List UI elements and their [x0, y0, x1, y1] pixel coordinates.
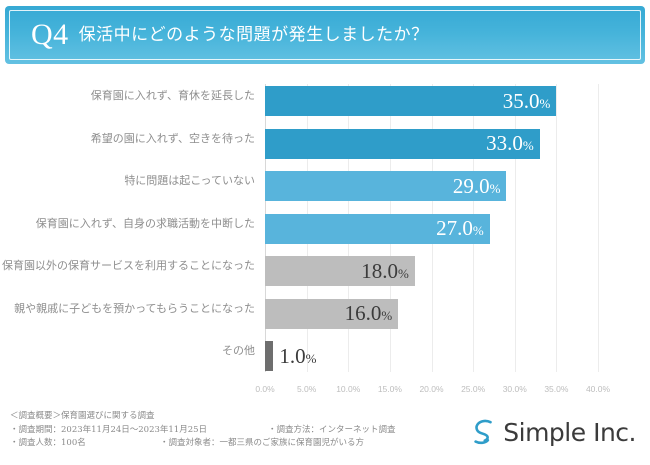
category-label: 親や親戚に子どもを預かってもらうことになった — [0, 303, 255, 314]
bar-value-number: 18.0 — [361, 259, 398, 283]
category-label: 特に問題は起こっていない — [0, 175, 255, 186]
header-text-row: Q4 保活中にどのような問題が発生しましたか？ — [31, 6, 429, 64]
bar: 33.0% — [265, 129, 540, 159]
bar-value-unit: % — [306, 351, 317, 366]
bar-value-unit: % — [540, 96, 551, 111]
x-tick-label: 35.0% — [544, 384, 568, 394]
bar-row: 1.0% — [265, 341, 273, 371]
bar-value-number: 16.0 — [345, 301, 382, 325]
x-tick-label: 30.0% — [503, 384, 527, 394]
survey-method: ・調査方法：インターネット調査 — [268, 424, 396, 438]
x-axis-ticks: 0.0%5.0%10.0%15.0%20.0%25.0%30.0%35.0%40… — [265, 384, 598, 398]
bar: 16.0% — [265, 299, 398, 329]
bar-value-label: 33.0% — [486, 133, 540, 154]
company-name: Simple Inc. — [503, 420, 636, 445]
company-logo: Simple Inc. — [470, 418, 636, 446]
survey-summary-line-2: ・調査期間：2023年11月24日〜2023年11月25日 ・調査方法：インター… — [10, 424, 207, 438]
bar-value-number: 1.0 — [279, 344, 305, 368]
category-label: 保育園以外の保育サービスを利用することになった — [0, 260, 255, 271]
header-banner: Q4 保活中にどのような問題が発生しましたか？ — [5, 6, 645, 64]
category-label: その他 — [0, 345, 255, 356]
footer: ＜調査概要＞保育園選びに関する調査 ・調査期間：2023年11月24日〜2023… — [0, 404, 650, 465]
bar-value-label: 1.0% — [273, 346, 322, 367]
category-label: 希望の園に入れず、空きを待った — [0, 133, 255, 144]
bar-value-unit: % — [490, 181, 501, 196]
x-tick-label: 20.0% — [419, 384, 443, 394]
bar: 27.0% — [265, 214, 490, 244]
bar-row: 18.0% — [265, 256, 415, 286]
bar-value-number: 27.0 — [436, 216, 473, 240]
bar-value-label: 35.0% — [503, 91, 557, 112]
x-tick-label: 40.0% — [586, 384, 610, 394]
x-tick-label: 5.0% — [297, 384, 316, 394]
bar-value-number: 35.0 — [503, 89, 540, 113]
bar-rows: 35.0%33.0%29.0%27.0%18.0%16.0%1.0% — [265, 84, 598, 384]
survey-summary: ＜調査概要＞保育園選びに関する調査 ・調査期間：2023年11月24日〜2023… — [10, 410, 207, 451]
bar-value-number: 33.0 — [486, 131, 523, 155]
plot-area: 35.0%33.0%29.0%27.0%18.0%16.0%1.0% — [265, 84, 598, 384]
bar: 18.0% — [265, 256, 415, 286]
question-title: 保活中にどのような問題が発生しましたか？ — [79, 27, 429, 44]
bar: 35.0% — [265, 86, 556, 116]
bar-value-label: 29.0% — [453, 176, 507, 197]
gridline — [598, 84, 599, 372]
category-label: 保育園に入れず、育休を延長した — [0, 90, 255, 101]
survey-target: ・調査対象者：一都三県のご家族に保育園児がいる方 — [160, 437, 364, 451]
x-tick-label: 0.0% — [255, 384, 274, 394]
simple-swirl-icon — [470, 418, 496, 446]
survey-summary-line-3: ・調査人数：100名 ・調査対象者：一都三県のご家族に保育園児がいる方 — [10, 437, 207, 451]
bar-value-number: 29.0 — [453, 174, 490, 198]
question-header: Q4 保活中にどのような問題が発生しましたか？ — [5, 6, 645, 64]
bar-value-unit: % — [523, 138, 534, 153]
bar-value-unit: % — [398, 266, 409, 281]
bar-value-label: 27.0% — [436, 218, 490, 239]
survey-summary-line-1: ＜調査概要＞保育園選びに関する調査 — [10, 410, 207, 424]
x-tick-label: 25.0% — [461, 384, 485, 394]
bar-value-label: 18.0% — [361, 261, 415, 282]
bar-value-unit: % — [381, 308, 392, 323]
bar: 29.0% — [265, 171, 506, 201]
bar-row: 29.0% — [265, 171, 506, 201]
bar-row: 33.0% — [265, 129, 540, 159]
bar-row: 16.0% — [265, 299, 398, 329]
bar-row: 27.0% — [265, 214, 490, 244]
bar-chart: 35.0%33.0%29.0%27.0%18.0%16.0%1.0% 0.0%5… — [0, 78, 650, 393]
x-tick-label: 10.0% — [336, 384, 360, 394]
survey-overview-label: ＜調査概要＞保育園選びに関する調査 — [10, 411, 155, 421]
bar-value-unit: % — [473, 223, 484, 238]
x-tick-label: 15.0% — [378, 384, 402, 394]
survey-sample-size: ・調査人数：100名 — [10, 438, 86, 448]
bar: 1.0% — [265, 341, 273, 371]
category-label: 保育園に入れず、自身の求職活動を中断した — [0, 218, 255, 229]
question-number: Q4 — [31, 20, 69, 50]
bar-value-label: 16.0% — [345, 303, 399, 324]
survey-period: ・調査期間：2023年11月24日〜2023年11月25日 — [10, 425, 207, 435]
bar-row: 35.0% — [265, 86, 556, 116]
